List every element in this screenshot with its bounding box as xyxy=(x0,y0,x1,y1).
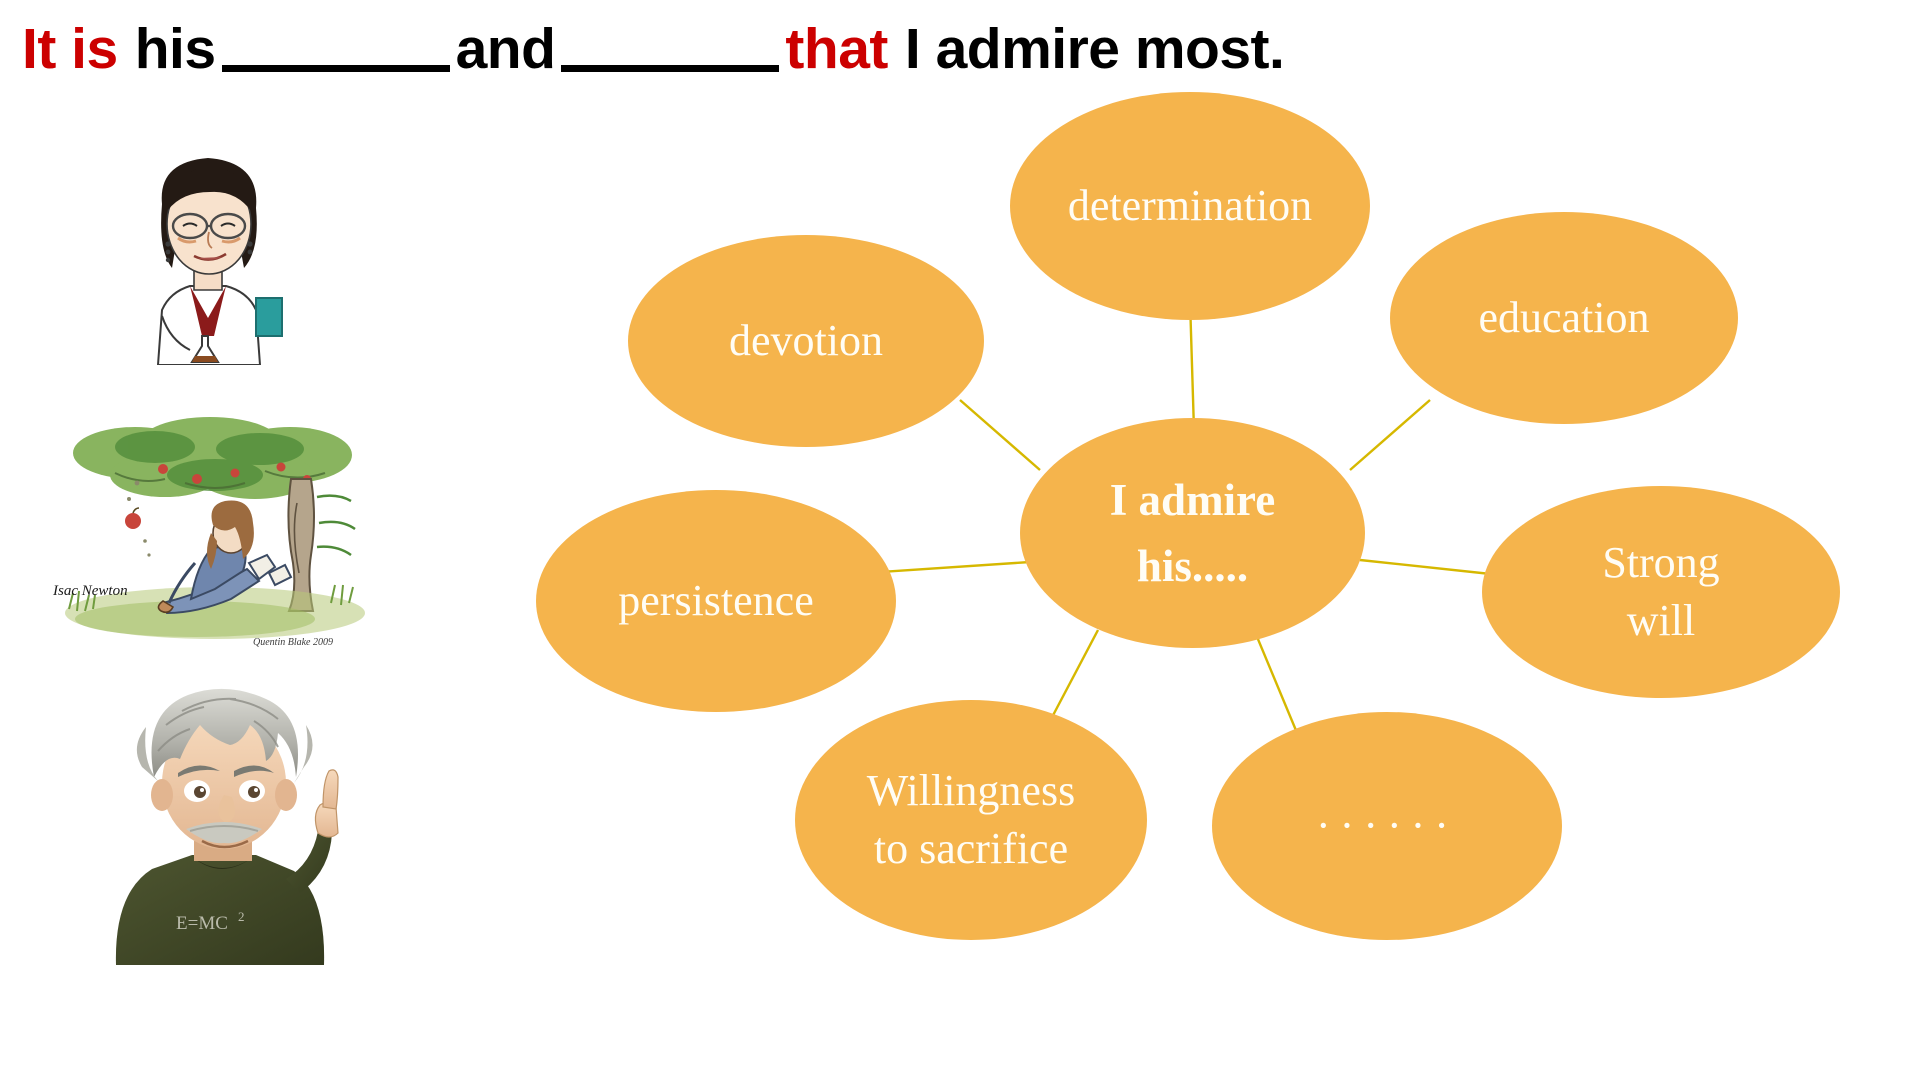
link-center-persistence xyxy=(880,562,1030,572)
einstein-figure-image: E=MC 2 xyxy=(80,655,380,965)
center-node[interactable]: I admire his..... xyxy=(1020,418,1365,648)
node-ellipsis-label: ······ xyxy=(1316,797,1458,855)
blank-line-1 xyxy=(222,27,450,72)
node-education-label: education xyxy=(1478,289,1649,347)
node-strong-will[interactable]: Strong will xyxy=(1482,486,1840,698)
node-strong-will-label-line2: will xyxy=(1627,592,1695,650)
node-willingness-label-line1: Willingness xyxy=(867,762,1075,820)
title-part-that: that xyxy=(785,18,887,80)
newton-apple-tree-image: Isac Newton Quentin Blake 2009 xyxy=(45,413,365,658)
newton-caption: Isac Newton xyxy=(52,583,128,599)
link-center-education xyxy=(1350,400,1430,470)
link-center-ellipsis xyxy=(1255,632,1300,740)
link-center-strong-will xyxy=(1360,560,1500,575)
title-part-his: his xyxy=(135,18,216,80)
node-determination[interactable]: determination xyxy=(1010,92,1370,320)
node-persistence[interactable]: persistence xyxy=(536,490,896,712)
node-devotion-label: devotion xyxy=(729,312,883,370)
title-part-tail: I admire most. xyxy=(905,18,1284,80)
title-part-it-is: It is xyxy=(22,18,118,80)
node-willingness[interactable]: Willingness to sacrifice xyxy=(795,700,1147,940)
node-education[interactable]: education xyxy=(1390,212,1738,424)
newton-signature: Quentin Blake 2009 xyxy=(253,637,333,648)
center-node-label-line1: I admire xyxy=(1110,467,1275,533)
einstein-shirt-text: E=MC xyxy=(176,913,228,934)
node-strong-will-label-line1: Strong xyxy=(1602,534,1719,592)
title-part-and: and xyxy=(456,18,556,80)
center-node-label-line2: his..... xyxy=(1137,533,1248,599)
blank-line-2 xyxy=(561,27,779,72)
node-determination-label: determination xyxy=(1068,177,1312,235)
node-ellipsis[interactable]: ······ xyxy=(1212,712,1562,940)
link-center-devotion xyxy=(960,400,1040,470)
node-persistence-label: persistence xyxy=(618,572,813,630)
scientist-caricature-image xyxy=(118,140,298,365)
node-devotion[interactable]: devotion xyxy=(628,235,984,447)
page-title: It ishis and thatI admire most. xyxy=(0,6,1920,92)
node-willingness-label-line2: to sacrifice xyxy=(874,820,1068,878)
svg-text:2: 2 xyxy=(238,909,245,924)
